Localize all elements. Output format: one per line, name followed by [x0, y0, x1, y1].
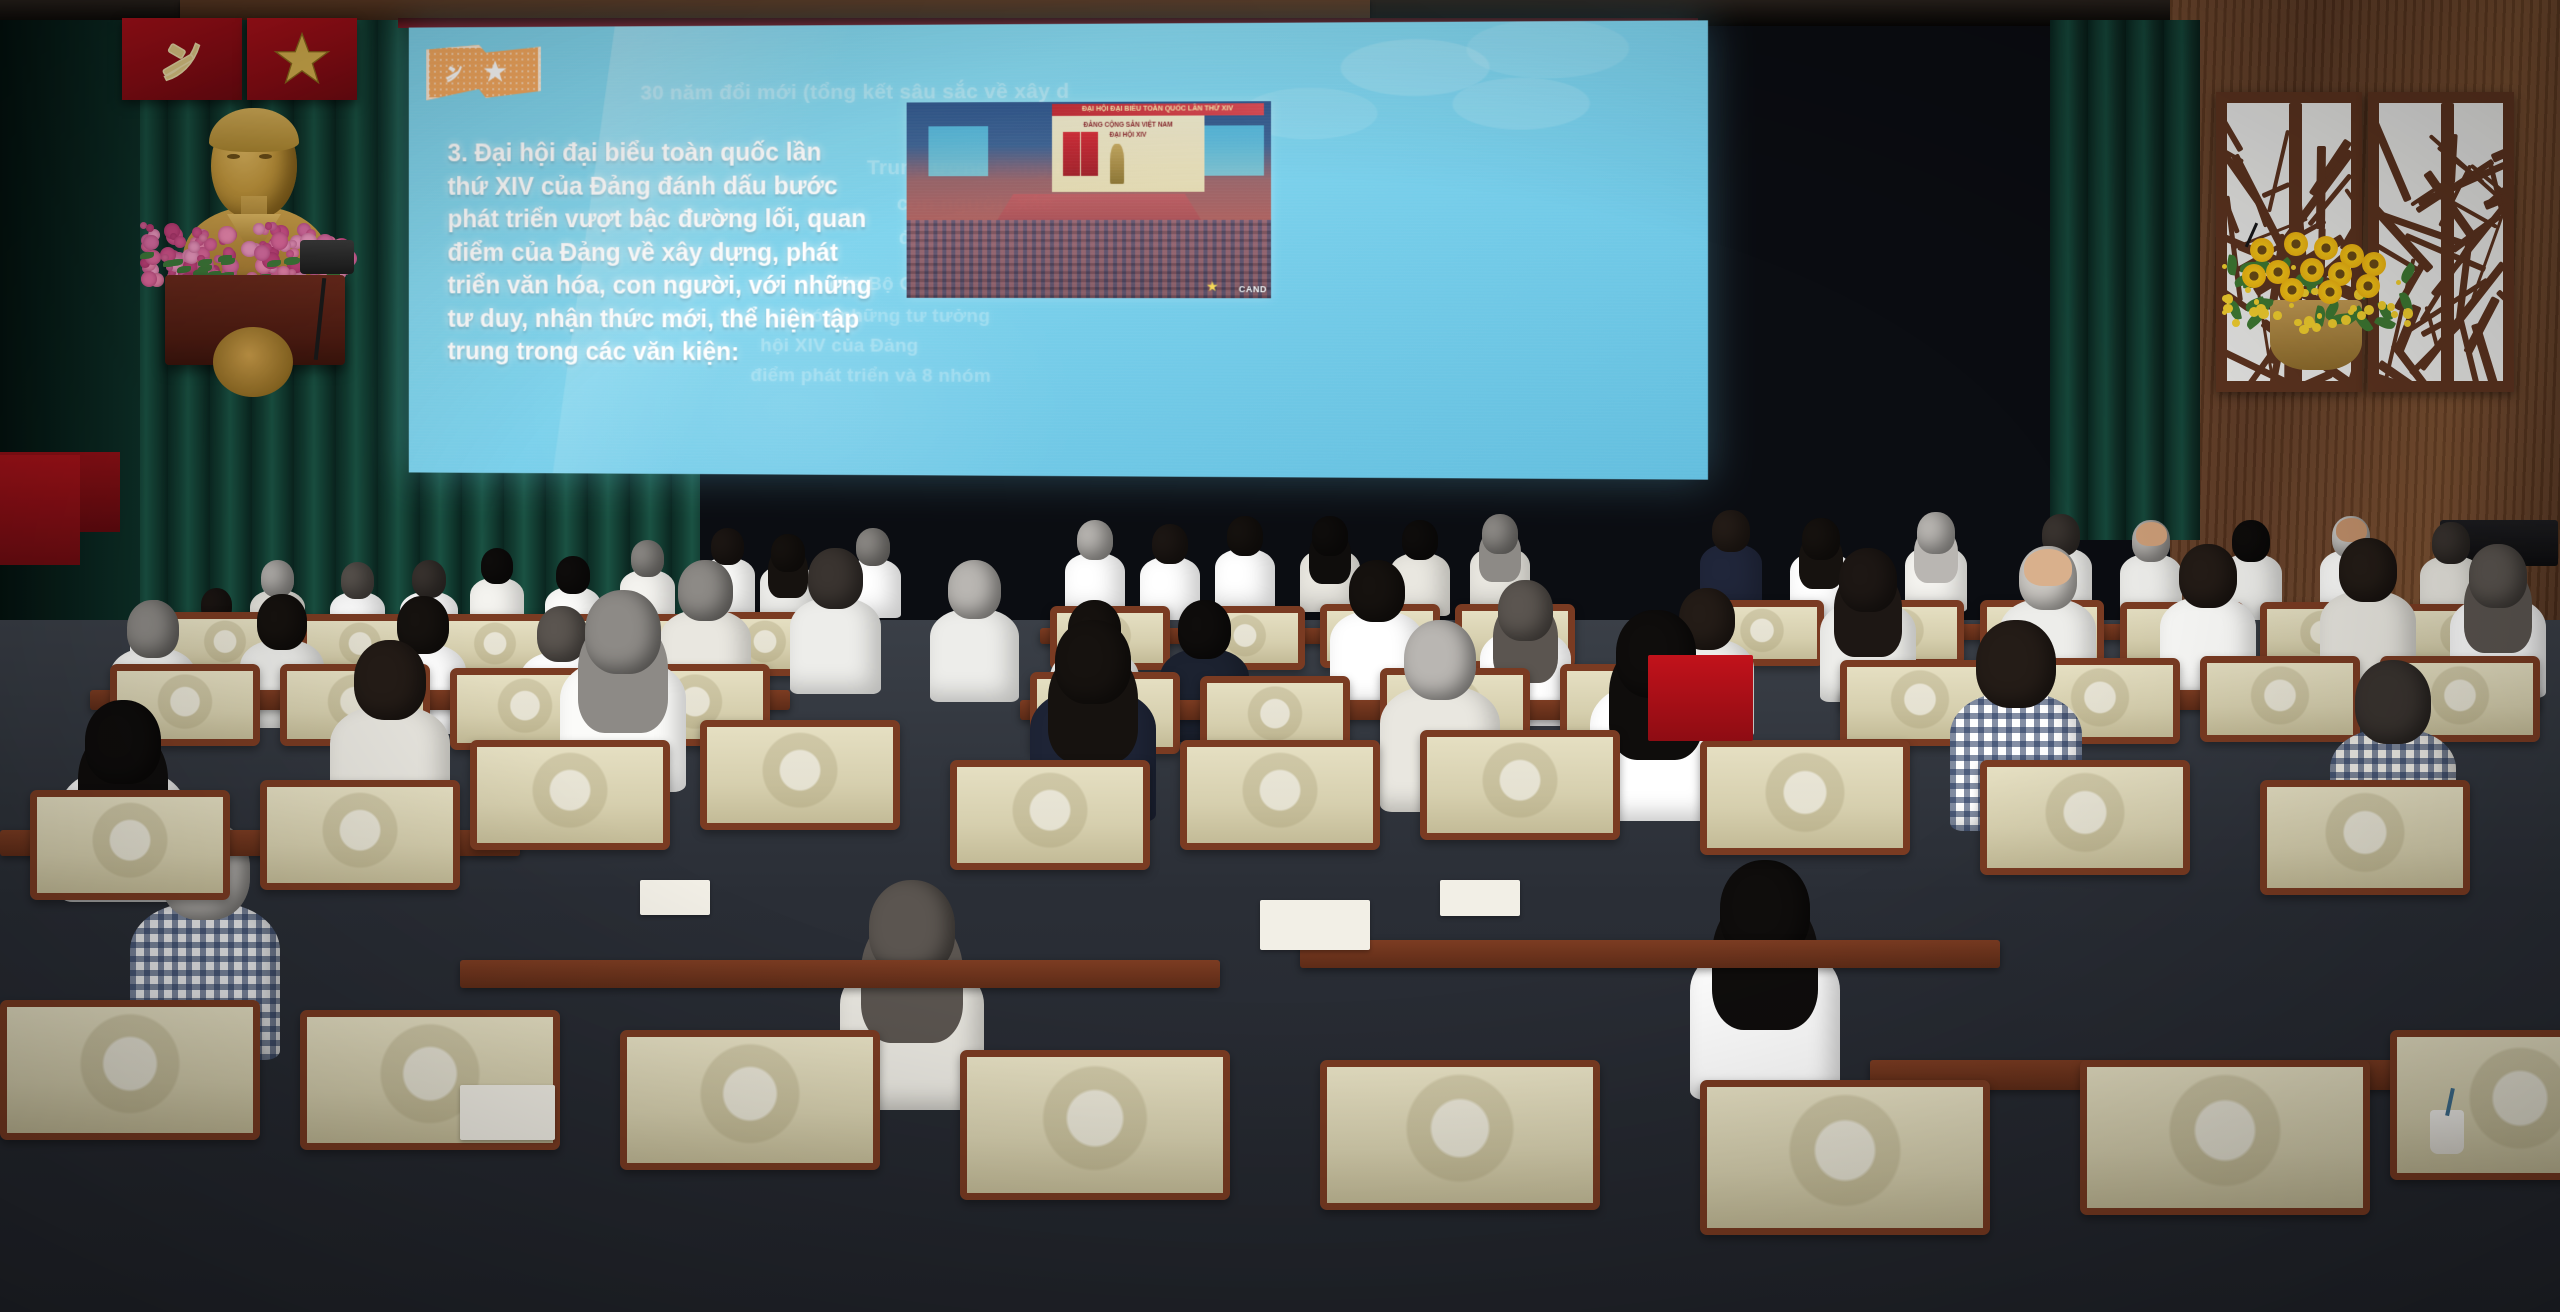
audience-member — [790, 548, 881, 692]
person-head — [1349, 560, 1405, 622]
auditorium-chair — [950, 760, 1150, 870]
chair-fabric-pattern — [967, 1057, 1223, 1193]
chair-fabric-pattern — [957, 767, 1143, 863]
person-head — [1482, 514, 1518, 554]
person-head — [2469, 544, 2527, 608]
person-head — [257, 594, 307, 650]
auditorium-chair — [960, 1050, 1230, 1200]
person-head — [1077, 520, 1113, 560]
audience-area — [0, 0, 2560, 1312]
document-paper — [460, 1085, 555, 1140]
person-torso — [930, 609, 1019, 702]
person-head — [1839, 548, 1897, 612]
auditorium-chair — [620, 1030, 880, 1170]
chair-fabric-pattern — [1707, 1087, 1983, 1228]
chair-fabric-pattern — [627, 1037, 873, 1163]
conference-hall-photo: 30 năm đổi mới (tổng kết sâu sắc về xây … — [0, 0, 2560, 1312]
audience-member — [1690, 860, 1840, 1098]
chair-fabric-pattern — [1427, 737, 1613, 833]
person-head — [412, 560, 447, 598]
person-head — [481, 548, 513, 584]
person-scalp — [2136, 522, 2167, 546]
person-head — [1404, 620, 1476, 700]
auditorium-chair — [260, 780, 460, 890]
person-head — [127, 600, 179, 658]
auditorium-chair — [1700, 740, 1910, 855]
document-paper — [640, 880, 710, 915]
person-torso — [790, 598, 881, 694]
person-head — [261, 560, 294, 597]
red-table-cloth — [1648, 655, 1753, 741]
chair-fabric-pattern — [2267, 787, 2463, 888]
chair-fabric-pattern — [707, 727, 893, 823]
chair-fabric-pattern — [7, 1007, 253, 1133]
desk-row — [1300, 940, 2000, 968]
chair-fabric-pattern — [37, 797, 223, 893]
document-paper — [1260, 900, 1370, 950]
chair-fabric-pattern — [1187, 747, 1373, 843]
person-head — [2339, 538, 2397, 602]
auditorium-chair — [1180, 740, 1380, 850]
auditorium-chair — [470, 740, 670, 850]
auditorium-chair — [2260, 780, 2470, 895]
chair-fabric-pattern — [267, 787, 453, 883]
person-head — [1055, 620, 1131, 704]
person-head — [1312, 516, 1348, 556]
person-head — [808, 548, 863, 609]
person-head — [2355, 660, 2431, 744]
person-head — [1917, 512, 1954, 554]
auditorium-chair — [1420, 730, 1620, 840]
auditorium-chair — [2080, 1060, 2370, 1215]
chair-fabric-pattern — [1707, 747, 1903, 848]
chair-fabric-pattern — [1987, 767, 2183, 868]
auditorium-chair — [700, 720, 900, 830]
person-head — [341, 562, 374, 599]
audience-member — [1215, 516, 1275, 611]
auditorium-chair — [1700, 1080, 1990, 1235]
chair-fabric-pattern — [477, 747, 663, 843]
chair-fabric-pattern — [2087, 1067, 2363, 1208]
person-head — [1712, 510, 1749, 552]
auditorium-chair — [1980, 760, 2190, 875]
person-head — [1498, 580, 1553, 641]
person-head — [678, 560, 733, 621]
person-head — [1402, 520, 1438, 560]
desk-row — [460, 960, 1220, 988]
chair-fabric-pattern — [1327, 1067, 1593, 1203]
auditorium-chair — [0, 1000, 260, 1140]
person-head — [1152, 524, 1188, 564]
person-head — [948, 560, 1001, 619]
person-head — [556, 556, 590, 594]
document-paper — [1440, 880, 1520, 916]
drink-cup — [2430, 1110, 2464, 1154]
person-head — [585, 590, 661, 674]
person-head — [2179, 544, 2237, 608]
person-head — [1178, 600, 1231, 659]
audience-member — [930, 560, 1019, 701]
person-head — [85, 700, 161, 784]
person-head — [1976, 620, 2055, 708]
chair-fabric-pattern — [2397, 1037, 2560, 1173]
person-scalp — [2024, 549, 2071, 586]
person-head — [1227, 516, 1263, 556]
person-head — [354, 640, 426, 720]
auditorium-chair — [2390, 1030, 2560, 1180]
auditorium-chair — [1320, 1060, 1600, 1210]
auditorium-chair — [30, 790, 230, 900]
